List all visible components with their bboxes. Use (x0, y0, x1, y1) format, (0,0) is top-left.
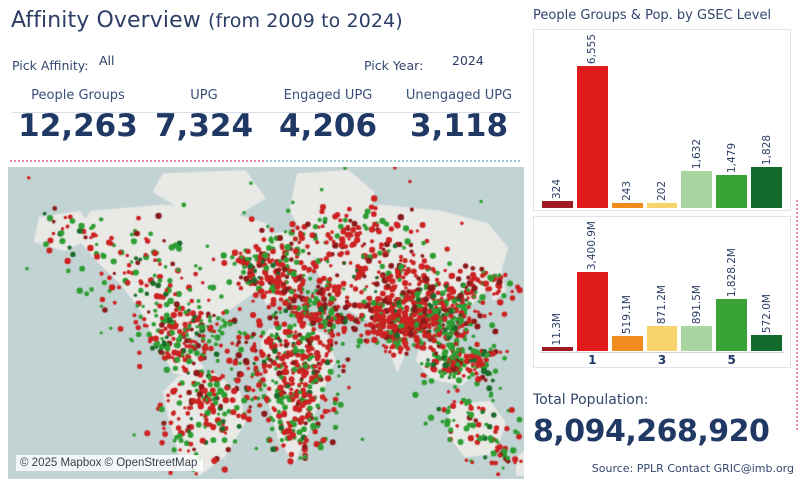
bar-slot[interactable]: 871.2M (647, 221, 678, 351)
bar-value-label: 1,828 (761, 135, 773, 165)
bar-rect[interactable] (647, 203, 678, 208)
bar-value-label: 572.0M (761, 294, 773, 333)
dashboard-root: Affinity Overview (from 2009 to 2024) Pi… (0, 0, 800, 488)
bar-rect[interactable] (716, 299, 747, 351)
page-title-main: Affinity Overview (11, 8, 208, 33)
x-tick-label (681, 353, 712, 367)
bar-rect[interactable] (716, 175, 747, 208)
pick-affinity-label: Pick Affinity: (12, 58, 88, 73)
bar-slot[interactable]: 891.5M (681, 221, 712, 351)
x-tick-label: 1 (577, 353, 608, 367)
kpi-people-groups: People Groups 12,263 (8, 88, 148, 146)
map-attribution: © 2025 Mapbox © OpenStreetMap (16, 455, 203, 471)
bar-slot[interactable]: 324 (542, 34, 573, 208)
x-tick-label (612, 353, 643, 367)
bar-rect[interactable] (681, 171, 712, 208)
kpi-label: UPG (150, 88, 258, 103)
bar-rect[interactable] (612, 336, 643, 351)
bar-slot[interactable]: 6,555 (577, 34, 608, 208)
page-title: Affinity Overview (from 2009 to 2024) (11, 8, 403, 33)
bar-slot[interactable]: 243 (612, 34, 643, 208)
kpi-row: People Groups 12,263 UPG 7,324 Engaged U… (0, 88, 527, 158)
bar-rect[interactable] (751, 167, 782, 208)
pick-year-value[interactable]: 2024 (452, 53, 484, 68)
bar-slot[interactable]: 3,400.9M (577, 221, 608, 351)
bar-slot[interactable]: 1,632 (681, 34, 712, 208)
bar-value-label: 6,555 (586, 34, 598, 64)
right-panel: People Groups & Pop. by GSEC Level 3246,… (527, 0, 800, 488)
bar-rect[interactable] (542, 201, 573, 208)
bar-slot[interactable]: 11.3M (542, 221, 573, 351)
page-title-range: (from 2009 to 2024) (208, 10, 403, 32)
bar-value-label: 3,400.9M (586, 221, 598, 270)
bar-series: 3246,5552432021,6321,4791,828 (540, 34, 784, 208)
charts-title: People Groups & Pop. by GSEC Level (533, 8, 771, 23)
plot-area: 11.3M3,400.9M519.1M871.2M891.5M1,828.2M5… (534, 217, 790, 367)
x-tick-label: 5 (716, 353, 747, 367)
kpi-divider (12, 112, 520, 113)
bar-value-label: 891.5M (691, 285, 703, 324)
pick-affinity-value[interactable]: All (99, 53, 115, 68)
bar-slot[interactable]: 202 (647, 34, 678, 208)
bar-slot[interactable]: 519.1M (612, 221, 643, 351)
bar-value-label: 871.2M (656, 285, 668, 324)
bar-rect[interactable] (647, 326, 678, 351)
source-text: Source: PPLR Contact GRIC@imb.org (592, 462, 794, 475)
chart-population-by-gsec[interactable]: 11.3M3,400.9M519.1M871.2M891.5M1,828.2M5… (533, 216, 791, 368)
bar-value-label: 202 (656, 181, 668, 201)
bar-rect[interactable] (577, 66, 608, 208)
map-canvas[interactable] (8, 167, 524, 479)
kpi-dotted-divider-right (266, 160, 522, 162)
bar-value-label: 519.1M (621, 295, 633, 334)
left-column: Affinity Overview (from 2009 to 2024) Pi… (0, 0, 527, 488)
pick-year-label: Pick Year: (364, 58, 423, 73)
kpi-label: Unengaged UPG (395, 88, 523, 103)
bar-rect[interactable] (681, 326, 712, 351)
bar-series: 11.3M3,400.9M519.1M871.2M891.5M1,828.2M5… (540, 221, 784, 351)
bar-slot[interactable]: 1,479 (716, 34, 747, 208)
bar-value-label: 1,632 (691, 139, 703, 169)
kpi-engaged-upg: Engaged UPG 4,206 (258, 88, 398, 146)
bar-value-label: 243 (621, 181, 633, 201)
total-population-value: 8,094,268,920 (533, 414, 799, 449)
bar-slot[interactable]: 1,828.2M (716, 221, 747, 351)
x-tick-label (542, 353, 573, 367)
x-tick-label: 3 (647, 353, 678, 367)
filter-row: Pick Affinity: All Pick Year: 2024 (0, 52, 527, 78)
bar-slot[interactable]: 1,828 (751, 34, 782, 208)
kpi-unengaged-upg: Unengaged UPG 3,118 (395, 88, 523, 146)
bar-rect[interactable] (751, 335, 782, 351)
bar-value-label: 1,479 (726, 143, 738, 173)
plot-area: 3246,5552432021,6321,4791,828 (534, 30, 790, 210)
chart-people-groups-by-gsec[interactable]: 3246,5552432021,6321,4791,828 (533, 29, 791, 211)
total-population-label: Total Population: (533, 392, 648, 408)
kpi-label: People Groups (8, 88, 148, 103)
x-tick-label (751, 353, 782, 367)
panel-dotted-divider (796, 200, 798, 430)
bar-rect[interactable] (612, 203, 643, 208)
bar-rect[interactable] (577, 272, 608, 351)
bar-rect[interactable] (542, 347, 573, 351)
bar-value-label: 1,828.2M (726, 248, 738, 297)
kpi-label: Engaged UPG (258, 88, 398, 103)
kpi-upg: UPG 7,324 (150, 88, 258, 146)
world-map[interactable]: © 2025 Mapbox © OpenStreetMap (8, 167, 524, 479)
bar-value-label: 324 (551, 179, 563, 199)
x-axis-ticks: 135 (540, 353, 784, 367)
bar-value-label: 11.3M (551, 313, 563, 345)
bar-slot[interactable]: 572.0M (751, 221, 782, 351)
